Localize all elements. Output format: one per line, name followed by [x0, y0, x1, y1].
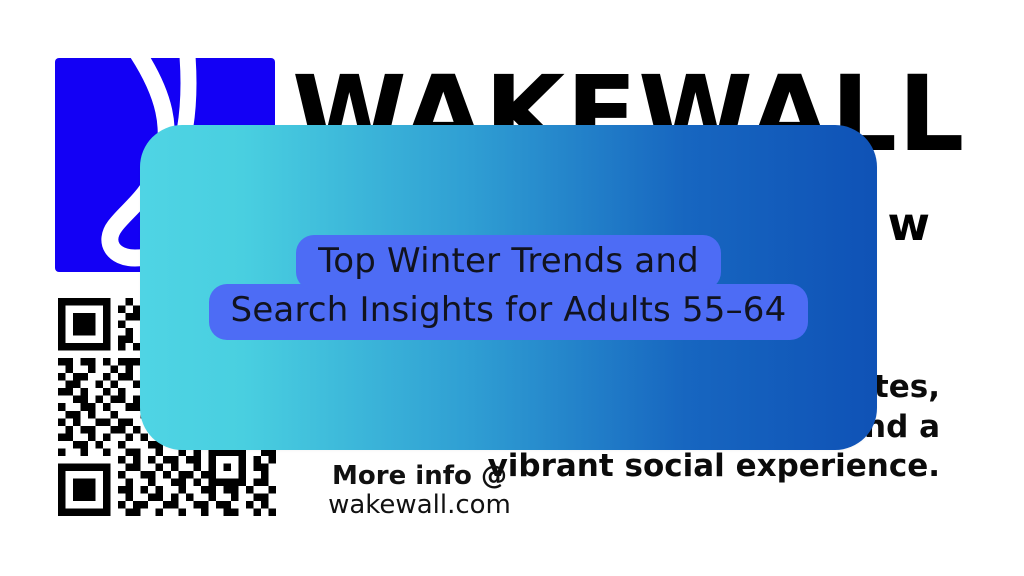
overlay-headline-line-1: Top Winter Trends and — [296, 235, 721, 290]
more-info-url[interactable]: wakewall.com — [312, 491, 527, 520]
overlay-gradient-card: Top Winter Trends and Search Insights fo… — [140, 125, 877, 450]
overlay-headline-line-2: Search Insights for Adults 55–64 — [209, 284, 809, 339]
poster-canvas: WAKEWALL w tes, business listings, and a… — [0, 0, 1024, 576]
more-info-block: More info @ wakewall.com — [312, 462, 527, 520]
more-info-label: More info @ — [312, 462, 527, 491]
overlay-headline: Top Winter Trends and Search Insights fo… — [140, 235, 877, 340]
